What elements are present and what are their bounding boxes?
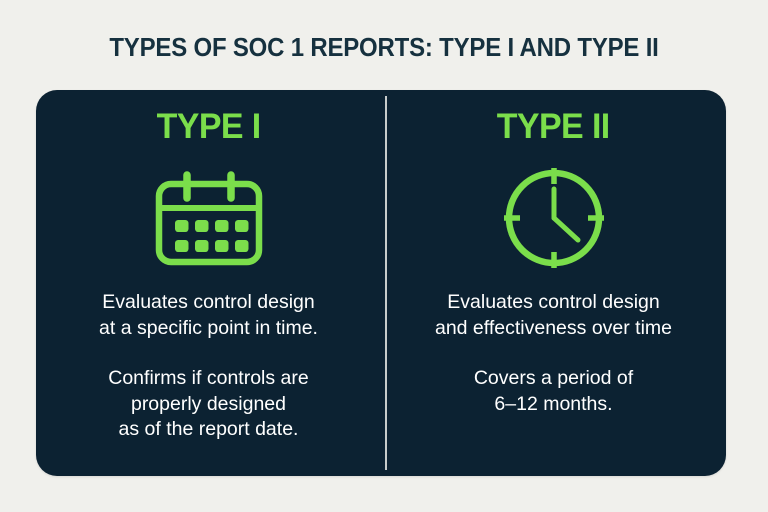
column-heading-type-ii: TYPE II	[497, 109, 610, 144]
column-paragraph-2-type-i: Confirms if controls are properly design…	[108, 366, 308, 443]
column-type-ii: TYPE II Evaluates control design and ef	[381, 90, 726, 476]
calendar-icon	[150, 166, 268, 270]
column-type-i: TYPE I	[36, 90, 381, 476]
infographic-root: TYPES OF SOC 1 REPORTS: TYPE I AND TYPE …	[0, 0, 768, 512]
column-paragraph-1-type-i: Evaluates control design at a specific p…	[99, 290, 318, 341]
column-heading-type-i: TYPE I	[156, 109, 260, 144]
clock-icon	[502, 166, 606, 270]
page-title: TYPES OF SOC 1 REPORTS: TYPE I AND TYPE …	[23, 34, 745, 63]
column-paragraph-1-type-ii: Evaluates control design and effectivene…	[435, 290, 672, 341]
comparison-card: TYPE I	[36, 90, 726, 476]
column-paragraph-2-type-ii: Covers a period of 6–12 months.	[474, 366, 633, 417]
